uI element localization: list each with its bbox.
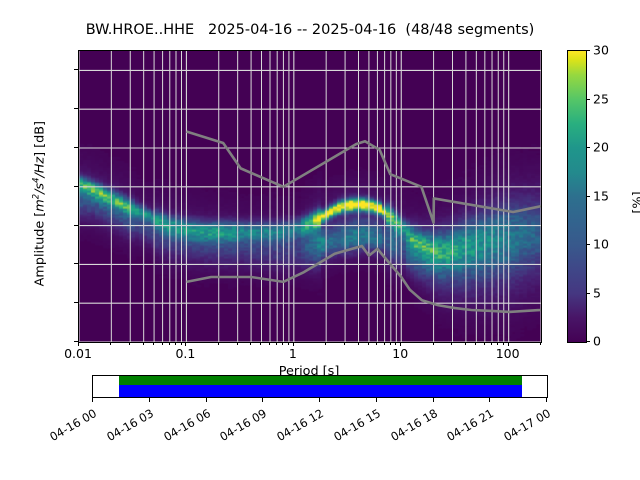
y-axis-unit-exp2: 4: [30, 178, 40, 183]
x-axis-tick-mark: [540, 342, 541, 345]
y-axis-tick-mark: [74, 147, 78, 148]
nlnm-curve: [186, 246, 541, 312]
colorbar-tick-mark: [586, 196, 590, 197]
x-axis-tick-mark: [503, 342, 504, 345]
timeline-tick-label: 04-16 21: [437, 406, 496, 448]
y-axis-label-suffix: ] [dB]: [33, 121, 48, 157]
x-axis-tick-mark: [282, 342, 283, 345]
timeline-tick-label: 04-16 00: [40, 406, 99, 448]
timeline-tick-label: 04-16 18: [381, 406, 440, 448]
x-axis-tick-mark: [491, 342, 492, 345]
colorbar-tick-label: 5: [593, 285, 601, 300]
colorbar[interactable]: [567, 50, 587, 343]
timeline-tick-label: 04-16 09: [210, 406, 269, 448]
timeline-tick-mark: [149, 398, 150, 402]
x-axis-tick-mark: [237, 342, 238, 345]
colorbar-tick-mark: [586, 50, 590, 51]
x-axis-tick-mark: [162, 342, 163, 345]
x-axis-tick-mark: [250, 342, 251, 345]
x-axis-tick-mark: [175, 342, 176, 345]
timeline-tick-mark: [206, 398, 207, 402]
x-axis-tick-mark: [288, 342, 289, 345]
timeline-tick-mark: [262, 398, 263, 402]
timeline-tick-mark: [92, 398, 93, 402]
y-axis-tick-mark: [74, 302, 78, 303]
x-axis-tick-mark: [475, 342, 476, 345]
x-axis-tick-mark: [143, 342, 144, 345]
colorbar-tick-label: 0: [593, 334, 601, 349]
x-axis-tick-label: 100: [496, 346, 520, 361]
noise-model-curves: [79, 51, 541, 342]
y-axis-unit-end: /Hz: [33, 157, 48, 178]
y-axis-tick-mark: [74, 108, 78, 109]
x-axis-tick-mark: [153, 342, 154, 345]
ppsd-plot-area[interactable]: [78, 50, 542, 343]
colorbar-tick-label: 25: [593, 91, 609, 106]
x-axis-tick-mark: [376, 342, 377, 345]
y-axis-tick-mark: [74, 69, 78, 70]
colorbar-tick-label: 10: [593, 237, 609, 252]
x-axis-tick-label: 0.1: [175, 346, 195, 361]
x-axis-tick-mark: [269, 342, 270, 345]
colorbar-tick-label: 15: [593, 188, 609, 203]
colorbar-tick-mark: [586, 341, 590, 342]
timeline-tick-label: 04-16 06: [154, 406, 213, 448]
timeline-tick-label: 04-16 15: [324, 406, 383, 448]
colorbar-tick-mark: [586, 99, 590, 100]
data-availability-bar: [119, 376, 522, 385]
x-axis-tick-mark: [390, 342, 391, 345]
x-axis-tick-label: 0.01: [64, 346, 92, 361]
colorbar-tick-mark: [586, 244, 590, 245]
ppsd-figure: BW.HROE..HHE 2025-04-16 -- 2025-04-16 (4…: [0, 0, 640, 480]
x-axis-tick-mark: [384, 342, 385, 345]
nhnm-curve: [186, 132, 541, 223]
y-axis-label: Amplitude [m2/s4/Hz] [dB]: [30, 74, 47, 334]
x-axis-tick-label: 10: [392, 346, 408, 361]
x-axis-tick-mark: [169, 342, 170, 345]
timeline-tick-label: 04-16 12: [267, 406, 326, 448]
x-axis-tick-mark: [260, 342, 261, 345]
x-axis-tick-mark: [325, 342, 326, 345]
colorbar-tick-label: 20: [593, 140, 609, 155]
y-axis-unit-m: m: [33, 199, 48, 211]
x-axis-tick-mark: [276, 342, 277, 345]
y-axis-unit-exp1: 2: [30, 194, 40, 199]
x-axis-tick-mark: [465, 342, 466, 345]
x-axis-tick-mark: [368, 342, 369, 345]
x-axis-tick-mark: [110, 342, 111, 345]
y-axis-unit-mid: /s: [33, 183, 48, 194]
colorbar-label: [%]: [631, 133, 640, 273]
colorbar-tick-label: 30: [593, 43, 609, 58]
x-axis-tick-label: 1: [289, 346, 297, 361]
x-axis-tick-mark: [218, 342, 219, 345]
timeline-tick-mark: [376, 398, 377, 402]
psd-segments-bar: [119, 385, 522, 397]
timeline-tick-mark: [433, 398, 434, 402]
y-axis-label-prefix: Amplitude [: [33, 212, 48, 287]
colorbar-tick-mark: [586, 147, 590, 148]
timeline-plot-area[interactable]: [92, 375, 548, 398]
x-axis-tick-mark: [484, 342, 485, 345]
timeline-tick-mark: [489, 398, 490, 402]
timeline-tick-label: 04-16 03: [97, 406, 156, 448]
y-axis-tick-mark: [74, 263, 78, 264]
timeline-tick-mark: [546, 398, 547, 402]
timeline-tick-label: 04-17 00: [494, 406, 553, 448]
page-title: BW.HROE..HHE 2025-04-16 -- 2025-04-16 (4…: [0, 22, 620, 38]
colorbar-tick-mark: [586, 293, 590, 294]
x-axis-tick-mark: [129, 342, 130, 345]
timeline-tick-mark: [319, 398, 320, 402]
x-axis-tick-mark: [433, 342, 434, 345]
y-axis-tick-mark: [74, 186, 78, 187]
x-axis-tick-mark: [451, 342, 452, 345]
y-axis-tick-mark: [74, 225, 78, 226]
x-axis-tick-mark: [497, 342, 498, 345]
x-axis-tick-mark: [181, 342, 182, 345]
x-axis-tick-mark: [344, 342, 345, 345]
x-axis-tick-mark: [395, 342, 396, 345]
x-axis-tick-mark: [358, 342, 359, 345]
